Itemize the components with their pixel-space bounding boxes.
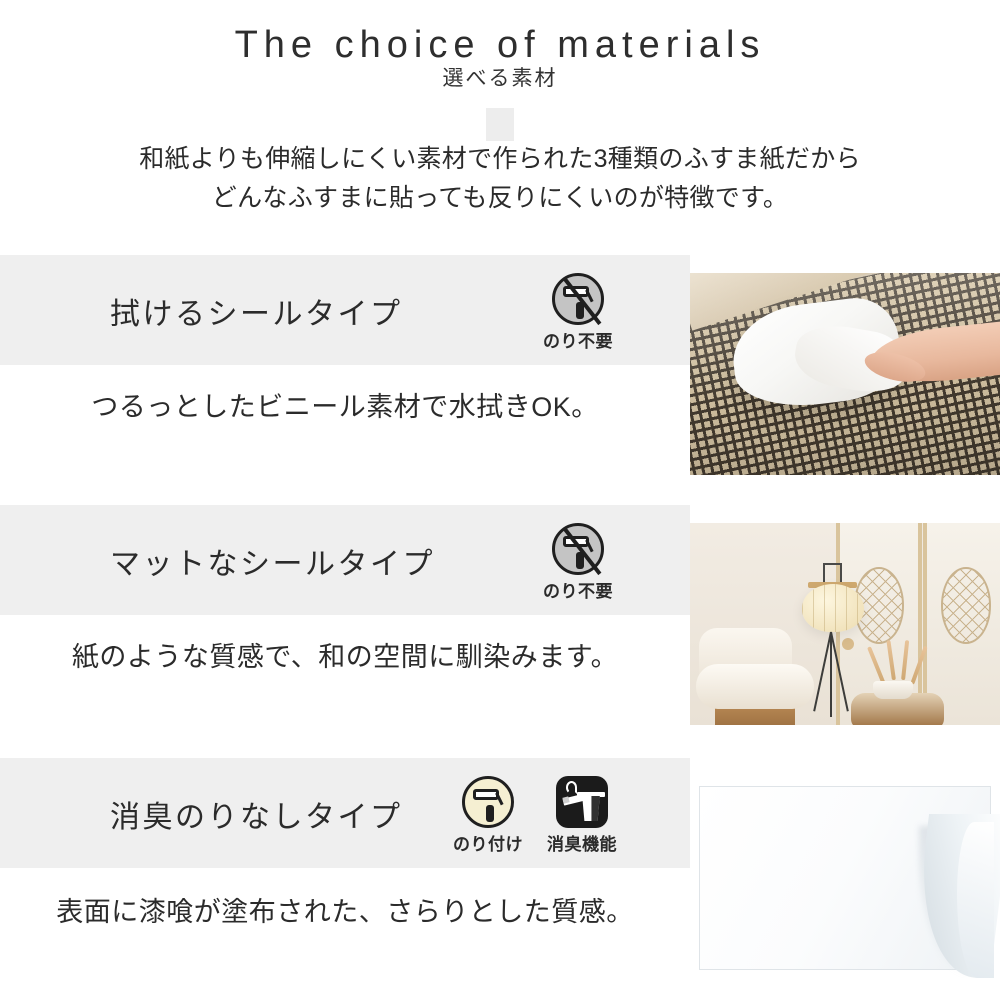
glue-roller-icon	[462, 776, 514, 828]
section-1-photo	[690, 273, 1000, 475]
section-3-description: 表面に漆喰が塗布された、さらりとした質感。	[0, 890, 690, 929]
badge-no-glue: のり不要	[540, 523, 616, 602]
section-3-badges: のり付け 消臭機能	[450, 776, 620, 855]
smoke-curl-shape	[566, 781, 577, 794]
section-2-description: 紙のような質感で、和の空間に馴染みます。	[0, 635, 690, 674]
badge-glue-needed: のり付け	[450, 776, 526, 855]
fusuma-knob	[842, 638, 854, 650]
material-section-3: 消臭のりなしタイプ のり付け 消臭機能	[0, 758, 1000, 1000]
no-glue-roller-icon	[552, 523, 604, 575]
badge-label: のり付け	[450, 830, 526, 855]
section-1-badges: のり不要	[540, 273, 616, 352]
divider-square	[486, 108, 514, 141]
page-header: The choice of materials 選べる素材 和紙よりも伸縮しにく…	[0, 0, 1000, 240]
japandi-room-scene	[690, 523, 1000, 725]
lead-line-1: 和紙よりも伸縮しにくい素材で作られた3種類のふすま紙だから	[0, 140, 1000, 179]
no-glue-roller-icon	[552, 273, 604, 325]
badge-label: のり不要	[540, 327, 616, 352]
paper-lantern-shade	[802, 584, 864, 632]
roller-handle-shape	[486, 805, 494, 822]
planter-pot	[873, 681, 913, 699]
page-title: The choice of materials	[0, 26, 1000, 66]
material-section-1: 拭けるシールタイプ のり不要 つるっとしたビニール素材で水拭きOK。	[0, 255, 1000, 505]
badge-no-glue: のり不要	[540, 273, 616, 352]
section-3-photo	[690, 778, 1000, 978]
material-section-2: マットなシールタイプ のり不要 紙のような質感で、和の空間に馴染みます。	[0, 505, 1000, 755]
section-1-description: つるっとしたビニール素材で水拭きOK。	[0, 385, 690, 424]
deodorize-icon	[556, 776, 608, 828]
round-lattice-window	[941, 567, 991, 644]
lamp-leg-3	[830, 632, 832, 717]
section-3-title: 消臭のりなしタイプ	[110, 792, 403, 836]
paper-curl-edge	[957, 822, 994, 978]
lead-line-2: どんなふすまに貼っても反りにくいのが特徴です。	[0, 179, 1000, 218]
page-subtitle: 選べる素材	[0, 62, 1000, 92]
section-2-badges: のり不要	[540, 523, 616, 602]
badge-label: のり不要	[540, 577, 616, 602]
section-2-photo	[690, 523, 1000, 725]
badge-deodorize: 消臭機能	[544, 776, 620, 855]
product-material-infographic: The choice of materials 選べる素材 和紙よりも伸縮しにく…	[0, 0, 1000, 1000]
badge-label: 消臭機能	[544, 830, 620, 855]
armchair-seat	[696, 664, 814, 708]
section-2-title: マットなシールタイプ	[110, 539, 435, 583]
section-1-title: 拭けるシールタイプ	[110, 289, 403, 333]
lantern-ribs	[802, 584, 864, 632]
lead-paragraph: 和紙よりも伸縮しにくい素材で作られた3種類のふすま紙だから どんなふすまに貼って…	[0, 140, 1000, 218]
